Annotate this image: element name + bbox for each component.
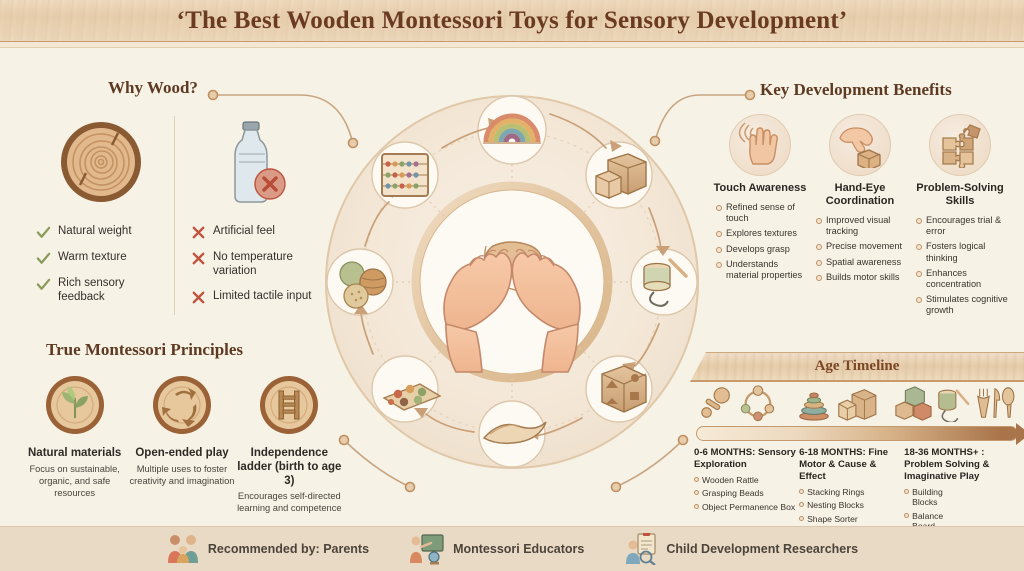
stacking-rings-icon — [795, 384, 833, 422]
principle-card-independence-ladder: Independence ladder (birth to age 3) Enc… — [237, 374, 342, 515]
footer-item-label: Recommended by: Parents — [208, 542, 369, 556]
leaf-badge-icon — [22, 374, 127, 441]
list-item: Building Blocks — [904, 487, 960, 508]
lacing-spool-icon — [934, 384, 972, 422]
bullet-dot-icon — [916, 218, 922, 224]
list-item: Nesting Blocks — [799, 500, 901, 510]
rattle-icon — [698, 384, 736, 422]
benefit-card-hand-eye-coordination: Hand-Eye Coordination Improved visual tr… — [812, 114, 908, 321]
why-wood-heading: Why Wood? — [108, 78, 328, 98]
list-item-label: Refined sense of touch — [726, 202, 808, 224]
bullet-dot-icon — [816, 275, 822, 281]
list-item: Wooden Rattle — [694, 475, 796, 485]
timeline-toy-icons — [690, 382, 1024, 424]
list-item: Precise movement — [816, 241, 908, 252]
benefit-bullets: Encourages trial & error Fosters logical… — [912, 215, 1008, 317]
footer-item-parents: Recommended by: Parents — [166, 533, 369, 565]
list-item-label: Stacking Rings — [807, 487, 864, 497]
bullet-dot-icon — [716, 247, 722, 253]
list-item-label: Enhances concentration — [926, 268, 1008, 290]
bullet-dot-icon — [716, 205, 722, 211]
list-item: Shape Sorter — [799, 514, 901, 524]
list-item: Grasping Beads — [694, 488, 796, 498]
bullet-dot-icon — [799, 502, 804, 507]
puzzle-pieces-icon — [929, 114, 991, 176]
footer-item-label: Montessori Educators — [453, 542, 584, 556]
hand-placing-block-icon — [829, 114, 891, 176]
list-item: Builds motor skills — [816, 272, 908, 283]
building-blocks-icon — [894, 384, 932, 422]
list-item-label: Develops grasp — [726, 244, 790, 255]
cross-icon — [191, 290, 206, 305]
benefit-bullets: Refined sense of touch Explores textures… — [712, 202, 808, 281]
plastic-bottle-rejected-icon — [191, 116, 312, 208]
bullet-dot-icon — [916, 297, 922, 303]
bullet-dot-icon — [904, 489, 909, 494]
list-item: Refined sense of touch — [716, 202, 808, 224]
list-item-label: Rich sensory feedback — [58, 276, 166, 305]
list-item-label: Encourages trial & error — [926, 215, 1008, 237]
bullet-dot-icon — [916, 244, 922, 250]
cross-icon — [191, 225, 206, 240]
bullet-dot-icon — [694, 477, 699, 482]
check-icon — [36, 251, 51, 266]
list-item: Develops grasp — [716, 244, 808, 255]
list-item-label: Grasping Beads — [702, 488, 764, 498]
principle-card-natural-materials: Natural materials Focus on sustainable, … — [22, 374, 127, 515]
list-item-label: Nesting Blocks — [807, 500, 864, 510]
abacus-icon — [382, 154, 428, 196]
benefit-title: Hand-Eye Coordination — [812, 182, 908, 208]
title-banner: ‘The Best Wooden Montessori Toys for Sen… — [0, 0, 1024, 44]
why-wood-cons-list: Artificial feel No temperature variation… — [191, 224, 312, 305]
list-item-label: Explores textures — [726, 228, 797, 239]
key-development-benefits-section: Key Development Benefits Touch Awareness… — [712, 80, 1012, 321]
list-item-label: Wooden Rattle — [702, 475, 759, 485]
benefit-card-problem-solving-skills: Problem-Solving Skills Encourages trial … — [912, 114, 1008, 321]
principle-title: Independence ladder (birth to age 3) — [237, 447, 342, 488]
list-item-label: Builds motor skills — [826, 272, 900, 283]
why-wood-pros-list: Natural weight Warm texture Rich sensory… — [36, 224, 166, 305]
principles-heading: True Montessori Principles — [46, 340, 342, 360]
why-wood-cons-column: Artificial feel No temperature variation… — [174, 116, 320, 315]
list-item: Rich sensory feedback — [36, 276, 166, 305]
grasping-beads-ring-icon — [738, 384, 778, 422]
wood-log-cross-section-icon — [36, 116, 166, 208]
list-item-label: Precise movement — [826, 241, 902, 252]
list-item: Limited tactile input — [191, 289, 312, 305]
timeline-stage-label: 0-6 MONTHS: Sensory Exploration — [694, 447, 796, 471]
list-item: No temperature variation — [191, 250, 312, 279]
list-item: Natural weight — [36, 224, 166, 240]
list-item-label: Improved visual tracking — [826, 215, 908, 237]
shape-sorter-cube-icon — [602, 366, 646, 412]
teacher-icon — [409, 533, 445, 565]
bullet-dot-icon — [799, 516, 804, 521]
list-item-label: Artificial feel — [213, 224, 275, 238]
benefit-bullets: Improved visual tracking Precise movemen… — [812, 215, 908, 283]
footer-item-label: Child Development Researchers — [666, 542, 858, 556]
list-item: Understands material properties — [716, 259, 808, 281]
true-montessori-principles-section: True Montessori Principles Natural mater… — [22, 340, 342, 515]
list-item-label: Natural weight — [58, 224, 132, 238]
list-item-label: Limited tactile input — [213, 289, 311, 303]
why-wood-section: Why Wood? Natural weight — [28, 78, 328, 315]
family-icon — [166, 533, 200, 565]
bullet-dot-icon — [694, 504, 699, 509]
list-item-label: Stimulates cognitive growth — [926, 294, 1008, 316]
benefit-card-touch-awareness: Touch Awareness Refined sense of touch E… — [712, 114, 808, 321]
list-item: Fosters logical thinking — [916, 241, 1008, 263]
benefit-title: Touch Awareness — [712, 182, 808, 195]
footer-item-educators: Montessori Educators — [409, 533, 584, 565]
principle-description: Focus on sustainable, organic, and safe … — [22, 464, 127, 500]
footer-item-researchers: Child Development Researchers — [624, 533, 858, 565]
list-item: Warm texture — [36, 250, 166, 266]
benefits-heading: Key Development Benefits — [760, 80, 1012, 100]
nesting-blocks-icon — [835, 384, 877, 422]
list-item: Explores textures — [716, 228, 808, 239]
principle-title: Open-ended play — [129, 447, 234, 461]
ladder-badge-icon — [237, 374, 342, 441]
list-item-label: Building Blocks — [912, 487, 960, 508]
list-item: Encourages trial & error — [916, 215, 1008, 237]
bullet-dot-icon — [716, 231, 722, 237]
hand-touch-icon — [729, 114, 791, 176]
benefit-title: Problem-Solving Skills — [912, 182, 1008, 208]
list-item: Artificial feel — [191, 224, 312, 240]
list-item-label: Fosters logical thinking — [926, 241, 1008, 263]
timeline-progress-arrow — [696, 426, 1018, 442]
bullet-dot-icon — [904, 513, 909, 518]
page-title: ‘The Best Wooden Montessori Toys for Sen… — [177, 7, 848, 35]
check-icon — [36, 277, 51, 292]
bullet-dot-icon — [799, 489, 804, 494]
list-item-label: Warm texture — [58, 250, 127, 264]
list-item: Object Permanence Box — [694, 502, 796, 512]
bullet-dot-icon — [816, 218, 822, 224]
list-item-label: No temperature variation — [213, 250, 312, 279]
list-item-label: Object Permanence Box — [702, 502, 795, 512]
principle-description: Multiple uses to foster creativity and i… — [129, 464, 234, 488]
list-item: Spatial awareness — [816, 257, 908, 268]
timeline-heading: Age Timeline — [815, 358, 900, 375]
bullet-dot-icon — [716, 262, 722, 268]
bullet-dot-icon — [816, 260, 822, 266]
list-item-label: Shape Sorter — [807, 514, 858, 524]
list-item: Stacking Rings — [799, 487, 901, 497]
bullet-dot-icon — [916, 271, 922, 277]
timeline-stage-label: 6-18 MONTHS: Fine Motor & Cause & Effect — [799, 447, 901, 483]
list-item: Enhances concentration — [916, 268, 1008, 290]
recycle-badge-icon — [129, 374, 234, 441]
principle-title: Natural materials — [22, 447, 127, 461]
timeline-stage-label: 18-36 MONTHS+ : Problem Solving & Imagin… — [904, 447, 1020, 483]
bullet-dot-icon — [694, 490, 699, 495]
montessori-toy-cycle-diagram — [318, 86, 706, 478]
age-timeline-banner: Age Timeline — [690, 352, 1024, 382]
play-kitchen-utensils-icon — [974, 384, 1016, 422]
researcher-clipboard-icon — [624, 533, 658, 565]
check-icon — [36, 225, 51, 240]
list-item-label: Understands material properties — [726, 259, 808, 281]
list-item-label: Spatial awareness — [826, 257, 901, 268]
principle-card-open-ended-play: Open-ended play Multiple uses to foster … — [129, 374, 234, 515]
list-item: Improved visual tracking — [816, 215, 908, 237]
list-item: Stimulates cognitive growth — [916, 294, 1008, 316]
bullet-dot-icon — [816, 244, 822, 250]
cross-icon — [191, 251, 206, 266]
recommended-by-footer: Recommended by: Parents Montessori Educa… — [0, 526, 1024, 571]
why-wood-pros-column: Natural weight Warm texture Rich sensory… — [28, 116, 174, 315]
principle-description: Encourages self-directed learning and co… — [237, 491, 342, 515]
